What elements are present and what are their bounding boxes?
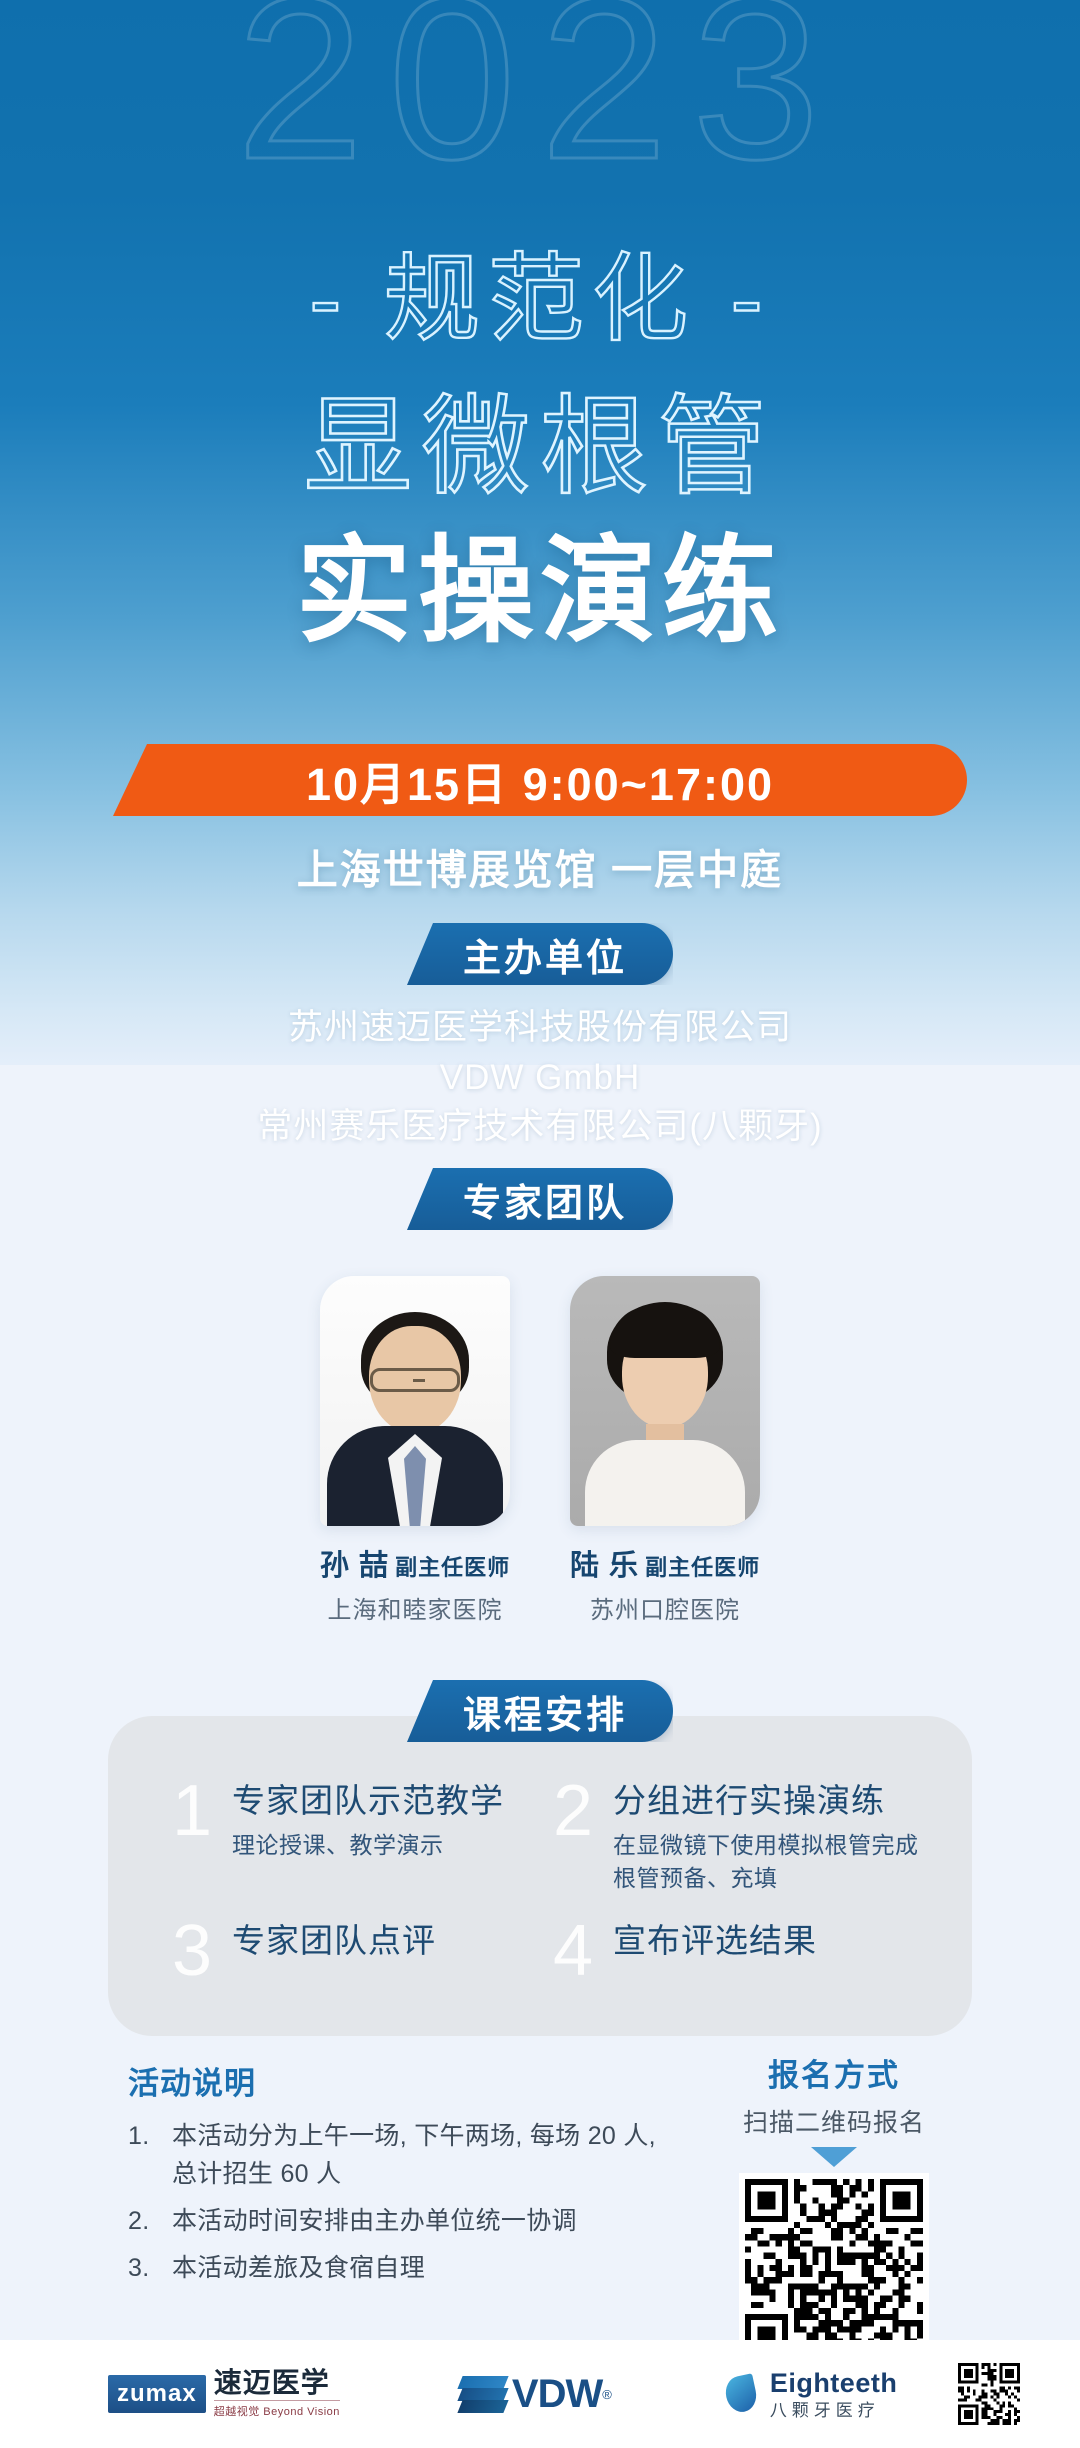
eighteeth-en-name: Eighteeth [770,2370,898,2397]
schedule-card: 1 专家团队示范教学 理论授课、教学演示 2 分组进行实操演练 在显微镜下使用模… [108,1716,972,2036]
experts-badge: 专家团队 [407,1168,673,1230]
note-text: 本活动时间安排由主办单位统一协调 [172,2207,577,2235]
notes-title: 活动说明 [128,2058,688,2103]
expert-name: 孙 喆副主任医师 [320,1542,510,1584]
organizer-badge-wrap: 主办单位 [0,923,1080,985]
zumax-wordmark: zumax [108,2375,206,2413]
registered-trademark-icon: ® [602,2387,612,2402]
expert-portrait [320,1276,510,1526]
footer-qr-code-icon[interactable] [958,2363,1020,2425]
experts-row: 孙 喆副主任医师 上海和睦家医院 陆 乐副主任医师 苏州口腔医院 [0,1276,1080,1625]
year-watermark: 2023 [0,0,1080,194]
experts-section: 专家团队 孙 喆副主任医师 上海和睦家医院 [0,1168,1080,1625]
glasses-icon [370,1368,460,1392]
hero-title-line3: 实操演练 [0,533,1080,649]
portrait-blouse [585,1440,745,1526]
schedule-item: 2 分组进行实操演练 在显微镜下使用模拟根管完成 根管预备、充填 [551,1782,932,1896]
hero-title-line1: - 规范化 - [0,250,1080,351]
note-index: 3. [128,2249,172,2287]
chevron-down-icon [811,2147,857,2167]
hero-section: 2023 - 规范化 - 显微根管 实操演练 10月15日 9:00~17:00… [0,0,1080,1065]
registration-block: 报名方式 扫描二维码报名 [684,2050,984,2363]
experts-badge-wrap: 专家团队 [0,1168,1080,1230]
expert-org: 上海和睦家医院 [320,1590,510,1625]
zumax-tagline-cn: 超越视觉 [214,2406,260,2418]
zumax-tagline: 超越视觉 Beyond Vision [214,2400,340,2419]
expert-card: 陆 乐副主任医师 苏州口腔医院 [570,1276,760,1625]
vdw-mark-icon [460,2376,506,2412]
organizer-item: VDW GmbH [0,1053,1080,1103]
expert-name: 陆 乐副主任医师 [570,1542,760,1584]
date-time-text: 10月15日 9:00~17:00 [306,748,774,813]
schedule-subtitle: 理论授课、教学演示 [232,1829,504,1862]
qr-code-icon[interactable] [739,2173,929,2363]
organizer-item: 常州赛乐医疗技术有限公司(八颗牙) [0,1102,1080,1152]
notes-block: 活动说明 1.本活动分为上午一场, 下午两场, 每场 20 人, 总计招生 60… [128,2058,688,2296]
eighteeth-drop-icon [722,2372,762,2416]
venue-text: 上海世博展览馆 一层中庭 [0,836,1080,896]
zumax-cn-name: 速迈医学 [214,2369,340,2397]
organizer-section: 主办单位 苏州速迈医学科技股份有限公司 VDW GmbH 常州赛乐医疗技术有限公… [0,923,1080,1152]
organizer-list: 苏州速迈医学科技股份有限公司 VDW GmbH 常州赛乐医疗技术有限公司(八颗牙… [0,1003,1080,1152]
date-banner: 10月15日 9:00~17:00 [113,744,967,816]
footer-logos: zumax 速迈医学 超越视觉 Beyond Vision VDW ® Eigh… [0,2340,1080,2448]
schedule-title: 分组进行实操演练 [613,1782,919,1821]
organizer-badge: 主办单位 [407,923,673,985]
schedule-number: 3 [170,1922,214,1981]
portrait-fringe [610,1306,720,1358]
expert-portrait [570,1276,760,1526]
note-item: 2.本活动时间安排由主办单位统一协调 [128,2202,688,2240]
schedule-item: 4 宣布评选结果 [551,1922,932,1981]
zumax-tagline-en: Beyond Vision [263,2406,340,2418]
eighteeth-cn-name: 八颗牙医疗 [770,2402,898,2419]
note-item: 1.本活动分为上午一场, 下午两场, 每场 20 人, 总计招生 60 人 [128,2117,688,2193]
expert-org: 苏州口腔医院 [570,1590,760,1625]
logo-zumax: zumax 速迈医学 超越视觉 Beyond Vision [108,2369,340,2419]
schedule-title: 宣布评选结果 [613,1922,817,1961]
hero-title-line2: 显微根管 [0,390,1080,503]
logo-vdw: VDW ® [460,2372,612,2417]
schedule-number: 2 [551,1782,595,1841]
registration-subtitle: 扫描二维码报名 [684,2103,984,2139]
schedule-badge: 课程安排 [407,1680,673,1742]
schedule-number: 4 [551,1922,595,1981]
expert-card: 孙 喆副主任医师 上海和睦家医院 [320,1276,510,1625]
schedule-number: 1 [170,1782,214,1841]
schedule-badge-wrap: 课程安排 [0,1680,1080,1742]
schedule-title: 专家团队示范教学 [232,1782,504,1821]
schedule-subtitle: 在显微镜下使用模拟根管完成 根管预备、充填 [613,1829,919,1896]
poster-root: 2023 - 规范化 - 显微根管 实操演练 10月15日 9:00~17:00… [0,0,1080,2448]
registration-title: 报名方式 [684,2050,984,2095]
note-index: 1. [128,2117,172,2155]
note-index: 2. [128,2202,172,2240]
notes-list: 1.本活动分为上午一场, 下午两场, 每场 20 人, 总计招生 60 人 2.… [128,2117,688,2287]
expert-name-text: 陆 乐 [570,1550,639,1582]
note-text: 本活动差旅及食宿自理 [172,2254,425,2282]
expert-role-text: 副主任医师 [395,1555,510,1580]
logo-eighteeth: Eighteeth 八颗牙医疗 [722,2370,898,2419]
expert-role-text: 副主任医师 [645,1555,760,1580]
schedule-item: 3 专家团队点评 [170,1922,551,1981]
vdw-wordmark: VDW [512,2372,602,2417]
note-item: 3.本活动差旅及食宿自理 [128,2249,688,2287]
note-text: 本活动分为上午一场, 下午两场, 每场 20 人, 总计招生 60 人 [172,2122,656,2188]
schedule-title: 专家团队点评 [232,1922,436,1961]
schedule-grid: 1 专家团队示范教学 理论授课、教学演示 2 分组进行实操演练 在显微镜下使用模… [170,1782,932,1981]
schedule-item: 1 专家团队示范教学 理论授课、教学演示 [170,1782,551,1896]
expert-name-text: 孙 喆 [320,1550,389,1582]
organizer-item: 苏州速迈医学科技股份有限公司 [0,1003,1080,1053]
bottom-info-section: 活动说明 1.本活动分为上午一场, 下午两场, 每场 20 人, 总计招生 60… [0,2040,1080,2340]
